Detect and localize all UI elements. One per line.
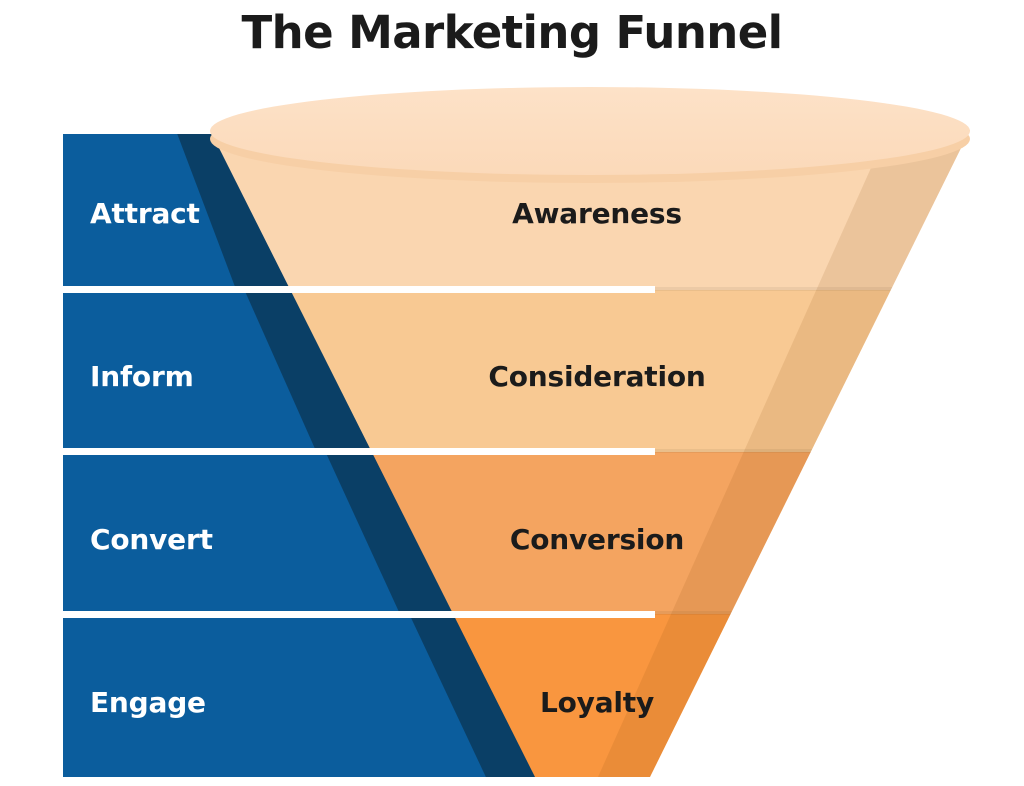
stage-action-label-engage: Engage: [90, 686, 206, 719]
stage-name-label-conversion: Conversion: [397, 523, 797, 556]
funnel-graphic: [0, 0, 1024, 786]
stage-action-label-attract: Attract: [90, 197, 200, 230]
stage-name-label-consideration: Consideration: [397, 360, 797, 393]
stage-name-label-awareness: Awareness: [397, 197, 797, 230]
stage-action-label-inform: Inform: [90, 360, 194, 393]
stage-action-label-convert: Convert: [90, 523, 213, 556]
funnel-rim-top: [210, 87, 970, 175]
marketing-funnel-infographic: The Marketing Funnel: [0, 0, 1024, 786]
stage-name-label-loyalty: Loyalty: [397, 686, 797, 719]
